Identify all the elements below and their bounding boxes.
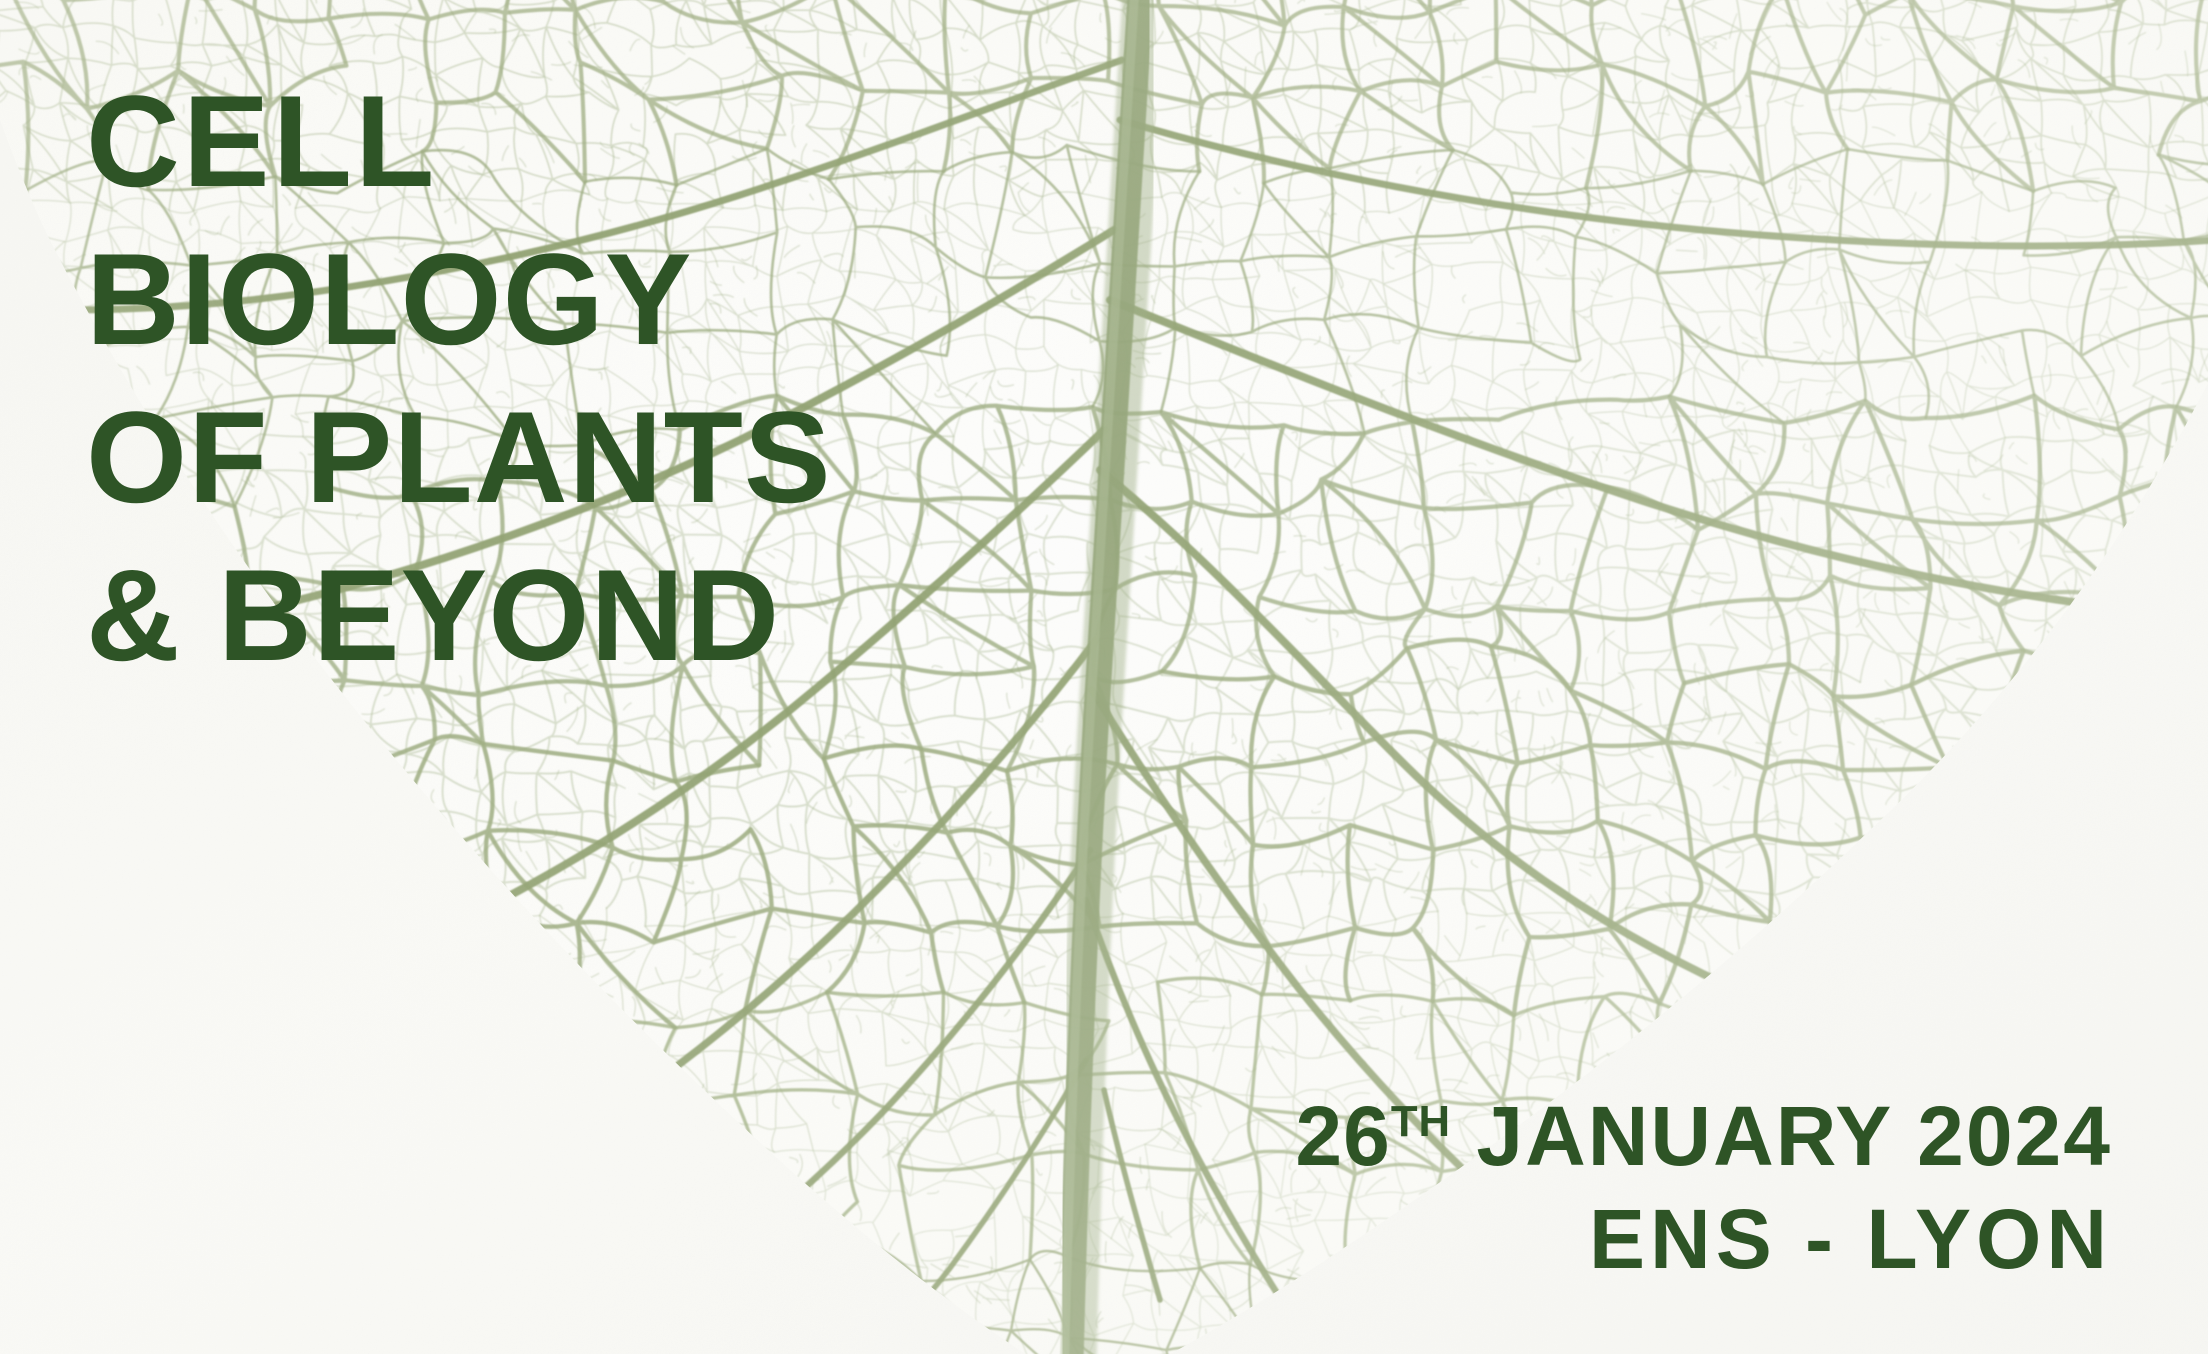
event-venue: ENS - LYON xyxy=(1295,1192,2112,1288)
title-line-1: CELL xyxy=(86,62,832,220)
poster-title: CELL BIOLOGY OF PLANTS & BEYOND xyxy=(86,62,832,694)
title-line-2: BIOLOGY xyxy=(86,220,832,378)
title-line-4: & BEYOND xyxy=(86,536,832,694)
event-details: 26TH JANUARY 2024 ENS - LYON xyxy=(1295,1089,2112,1289)
event-date-month-year: JANUARY 2024 xyxy=(1451,1089,2112,1183)
poster-canvas: CELL BIOLOGY OF PLANTS & BEYOND 26TH JAN… xyxy=(0,0,2208,1354)
event-date-day: 26 xyxy=(1295,1089,1390,1183)
title-line-3: OF PLANTS xyxy=(86,378,832,536)
event-date-ordinal-suffix: TH xyxy=(1391,1097,1451,1146)
event-date: 26TH JANUARY 2024 xyxy=(1295,1089,2112,1185)
